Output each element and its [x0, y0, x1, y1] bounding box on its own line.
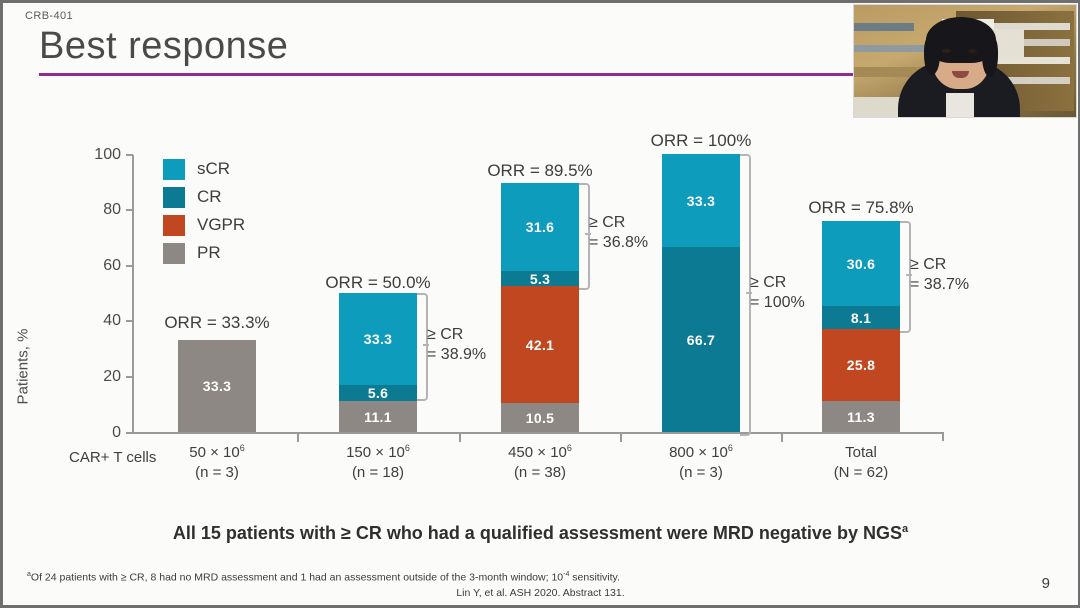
slide: CRB-401 Best response Patients, % 0 20 4… — [0, 0, 1080, 608]
segment-cr-bar-4: 66.7 — [662, 247, 740, 432]
y-tick-80: 80 — [77, 201, 121, 219]
segment-vgpr-bar-5: 25.8 — [822, 329, 900, 401]
legend-label-pr: PR — [197, 243, 221, 263]
ge-cr-label-bar-5: ≥ CR = 38.7% — [910, 255, 969, 294]
segment-cr-bar-3: 5.3 — [501, 271, 579, 286]
legend-item-vgpr: VGPR — [163, 211, 245, 239]
x-category-2-dose-text: 150 × 10 — [346, 444, 405, 461]
segment-vgpr-bar-3: 42.1 — [501, 286, 579, 403]
segment-pr-bar-5: 11.3 — [822, 401, 900, 432]
legend-item-cr: CR — [163, 183, 245, 211]
stacked-bar-2: 33.3 5.6 11.1 — [339, 293, 417, 432]
ge-cr-line2-bar-5: = 38.7% — [910, 275, 969, 295]
x-category-3-dose-exp: 6 — [567, 443, 572, 453]
summary-footnote-marker: a — [902, 523, 908, 535]
y-axis-line — [132, 155, 134, 433]
x-axis-line — [132, 432, 944, 434]
segment-pr-bar-3: 10.5 — [501, 403, 579, 432]
segment-scr-bar-3: 31.6 — [501, 183, 579, 271]
orr-label-bar-2: ORR = 50.0% — [325, 273, 430, 293]
chart-legend: sCR CR VGPR PR — [163, 155, 245, 267]
x-category-1: 50 × 106 (n = 3) — [142, 443, 292, 482]
summary-text: All 15 patients with ≥ CR who had a qual… — [173, 523, 902, 543]
y-axis-label: Patients, % — [14, 329, 31, 405]
stacked-bar-3: 31.6 5.3 42.1 10.5 — [501, 183, 579, 432]
x-category-4-dose-text: 800 × 10 — [669, 444, 728, 461]
legend-swatch-scr — [163, 159, 185, 180]
y-tick-40: 40 — [77, 312, 121, 330]
x-category-3: 450 × 106 (n = 38) — [465, 443, 615, 482]
x-category-2-n: (n = 18) — [303, 463, 453, 483]
orr-label-bar-3: ORR = 89.5% — [487, 161, 592, 181]
footnote-text: Of 24 patients with ≥ CR, 8 had no MRD a… — [31, 572, 563, 584]
legend-label-cr: CR — [197, 187, 222, 207]
legend-swatch-pr — [163, 243, 185, 264]
ge-cr-line2-bar-4: = 100% — [750, 293, 805, 313]
x-category-3-n: (n = 38) — [465, 463, 615, 483]
legend-item-scr: sCR — [163, 155, 245, 183]
x-category-2: 150 × 106 (n = 18) — [303, 443, 453, 482]
x-tickmark-4 — [781, 434, 783, 442]
x-tickmark-1 — [297, 434, 299, 442]
legend-swatch-cr — [163, 187, 185, 208]
legend-swatch-vgpr — [163, 215, 185, 236]
presenter-hair-left — [924, 35, 940, 75]
segment-scr-bar-2: 33.3 — [339, 293, 417, 385]
x-category-1-dose: 50 × 106 — [142, 443, 292, 463]
segment-scr-bar-4: 33.3 — [662, 154, 740, 247]
x-category-5-dose-text: Total — [845, 444, 877, 461]
footnote: aOf 24 patients with ≥ CR, 8 had no MRD … — [27, 571, 620, 584]
ge-cr-label-bar-3: ≥ CR = 36.8% — [589, 213, 648, 252]
x-axis-endcap — [942, 432, 944, 441]
citation: Lin Y, et al. ASH 2020. Abstract 131. — [3, 587, 1078, 599]
ge-cr-line2-bar-2: = 38.9% — [427, 345, 486, 365]
footnote-tail: sensitivity. — [569, 572, 620, 584]
y-tick-20: 20 — [77, 368, 121, 386]
y-tick-100: 100 — [77, 146, 121, 164]
orr-label-bar-1: ORR = 33.3% — [164, 313, 269, 333]
x-tickmark-2 — [459, 434, 461, 442]
x-category-4-n: (n = 3) — [626, 463, 776, 483]
stacked-bar-5: 30.6 8.1 25.8 11.3 — [822, 221, 900, 432]
best-response-chart: Patients, % 0 20 40 60 80 100 sCR CR — [3, 113, 1003, 503]
legend-item-pr: PR — [163, 239, 245, 267]
segment-scr-bar-5: 30.6 — [822, 221, 900, 306]
stacked-bar-1: 33.3 — [178, 340, 256, 432]
x-category-5-dose: Total — [786, 443, 936, 463]
x-category-1-dose-exp: 6 — [240, 443, 245, 453]
presenter-hair-right — [982, 35, 998, 77]
legend-label-scr: sCR — [197, 159, 230, 179]
x-category-2-dose: 150 × 106 — [303, 443, 453, 463]
slide-number: 9 — [1042, 575, 1050, 592]
segment-pr-bar-2: 11.1 — [339, 401, 417, 432]
presenter-eye-left — [942, 49, 951, 53]
presenter-eye-right — [968, 49, 977, 53]
orr-label-bar-5: ORR = 75.8% — [808, 198, 913, 218]
x-category-2-dose-exp: 6 — [405, 443, 410, 453]
ge-cr-label-bar-4: ≥ CR = 100% — [750, 273, 805, 312]
y-tick-0: 0 — [77, 424, 121, 442]
stacked-bar-4: 33.3 66.7 — [662, 154, 740, 432]
x-category-1-n: (n = 3) — [142, 463, 292, 483]
presenter-video-overlay[interactable] — [853, 4, 1077, 118]
y-tick-60: 60 — [77, 257, 121, 275]
page-title: Best response — [39, 25, 288, 68]
x-category-4: 800 × 106 (n = 3) — [626, 443, 776, 482]
shelf-top — [854, 23, 914, 31]
ge-cr-line1-bar-5: ≥ CR — [910, 255, 969, 275]
orr-label-bar-4: ORR = 100% — [651, 131, 752, 151]
ge-cr-line2-bar-3: = 36.8% — [589, 233, 648, 253]
segment-pr-bar-1: 33.3 — [178, 340, 256, 432]
ge-cr-line1-bar-4: ≥ CR — [750, 273, 805, 293]
x-category-4-dose: 800 × 106 — [626, 443, 776, 463]
ge-cr-label-bar-2: ≥ CR = 38.9% — [427, 325, 486, 364]
x-category-3-dose: 450 × 106 — [465, 443, 615, 463]
x-tickmark-3 — [620, 434, 622, 442]
legend-label-vgpr: VGPR — [197, 215, 245, 235]
segment-cr-bar-5: 8.1 — [822, 306, 900, 329]
x-category-5: Total (N = 62) — [786, 443, 936, 482]
ge-cr-line1-bar-2: ≥ CR — [427, 325, 486, 345]
ge-cr-line1-bar-3: ≥ CR — [589, 213, 648, 233]
x-category-4-dose-exp: 6 — [728, 443, 733, 453]
segment-cr-bar-2: 5.6 — [339, 385, 417, 401]
study-code-label: CRB-401 — [25, 10, 73, 22]
x-category-3-dose-text: 450 × 10 — [508, 444, 567, 461]
title-divider — [39, 73, 884, 76]
x-category-5-n: (N = 62) — [786, 463, 936, 483]
summary-statement: All 15 patients with ≥ CR who had a qual… — [3, 523, 1078, 544]
x-category-1-dose-text: 50 × 10 — [189, 444, 239, 461]
